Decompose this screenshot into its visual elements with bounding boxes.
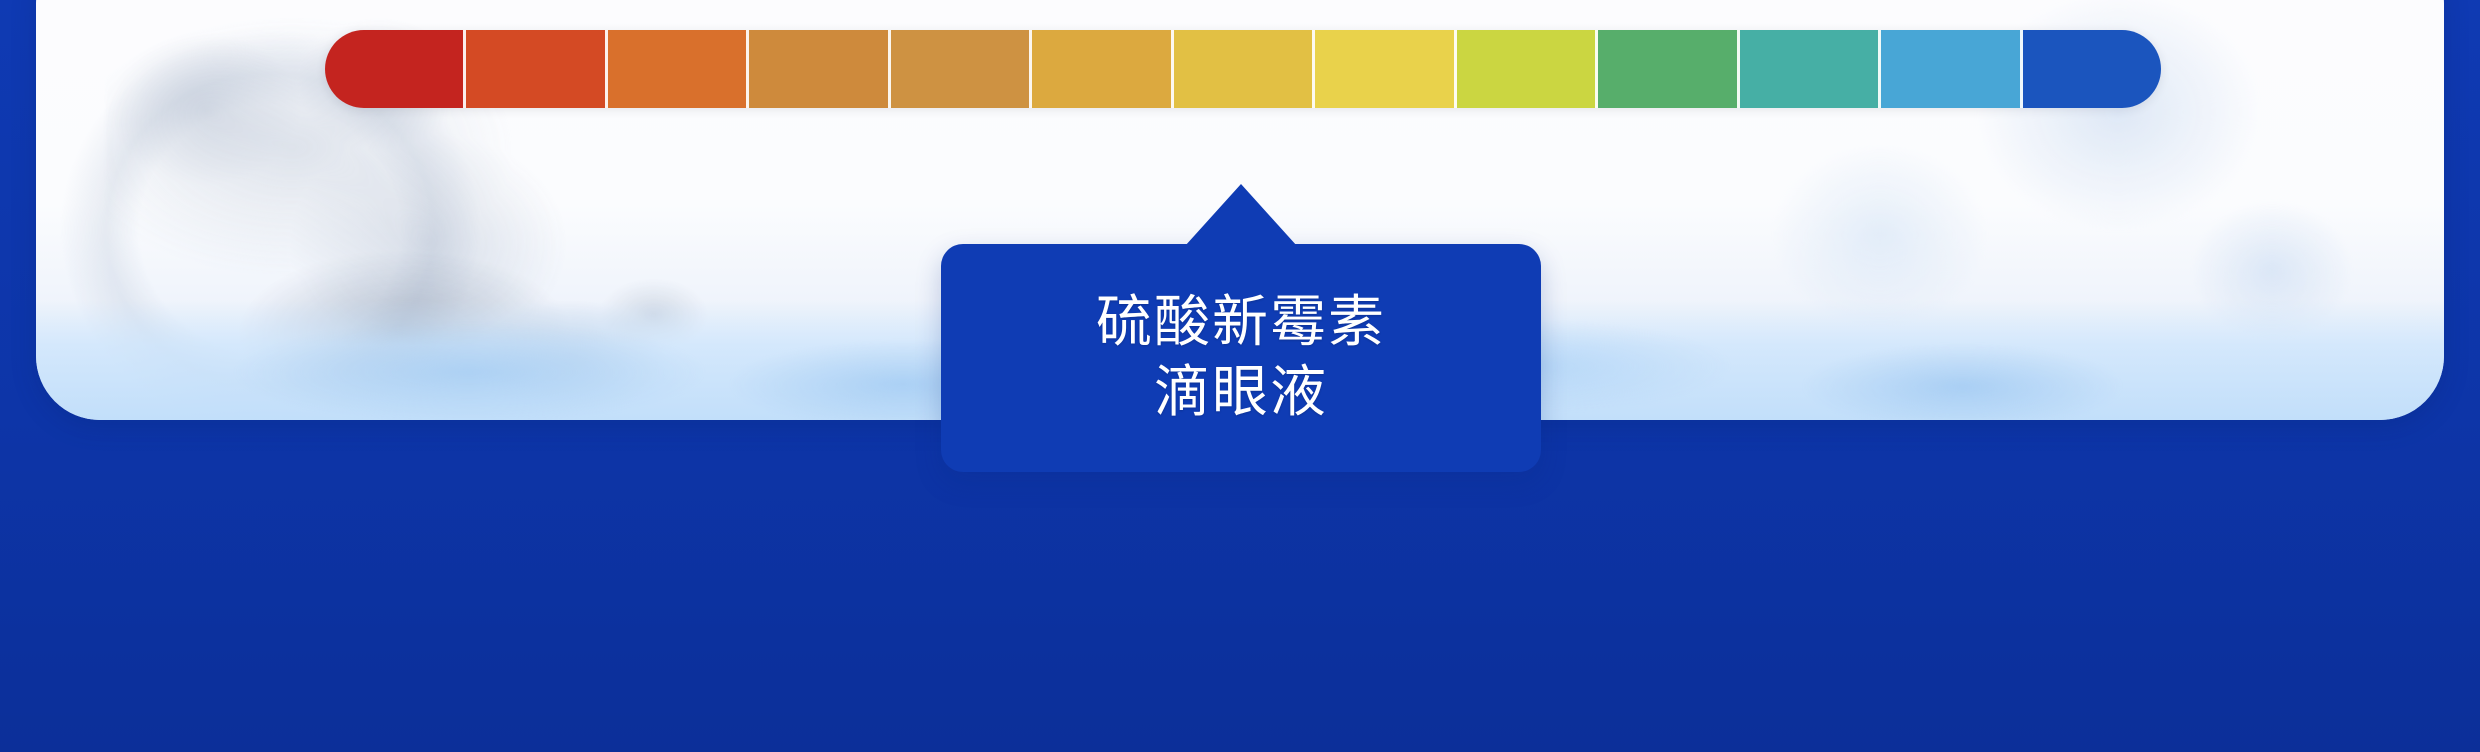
- scale-segment-9[interactable]: [1457, 30, 1598, 108]
- scale-segment-8[interactable]: [1315, 30, 1456, 108]
- scale-segment-7[interactable]: [1174, 30, 1315, 108]
- scale-segment-3[interactable]: [608, 30, 749, 108]
- callout-line-1: 硫酸新霉素: [1096, 289, 1386, 357]
- scale-segment-11[interactable]: [1740, 30, 1881, 108]
- color-spectrum-scale: [325, 30, 2161, 108]
- product-banner: 硫酸新霉素 滴眼液: [0, 0, 2480, 752]
- callout-text-block: 硫酸新霉素 滴眼液: [941, 244, 1541, 472]
- scale-segment-12[interactable]: [1881, 30, 2022, 108]
- scale-segment-6[interactable]: [1032, 30, 1173, 108]
- callout-pointer-arrow: [1185, 184, 1297, 246]
- scale-segment-13[interactable]: [2023, 30, 2161, 108]
- scale-segment-2[interactable]: [466, 30, 607, 108]
- product-name-callout: 硫酸新霉素 滴眼液: [941, 244, 1541, 472]
- scale-segment-10[interactable]: [1598, 30, 1739, 108]
- scale-segment-4[interactable]: [749, 30, 890, 108]
- scale-segment-5[interactable]: [891, 30, 1032, 108]
- callout-line-2: 滴眼液: [1154, 359, 1328, 427]
- scale-segment-1[interactable]: [325, 30, 466, 108]
